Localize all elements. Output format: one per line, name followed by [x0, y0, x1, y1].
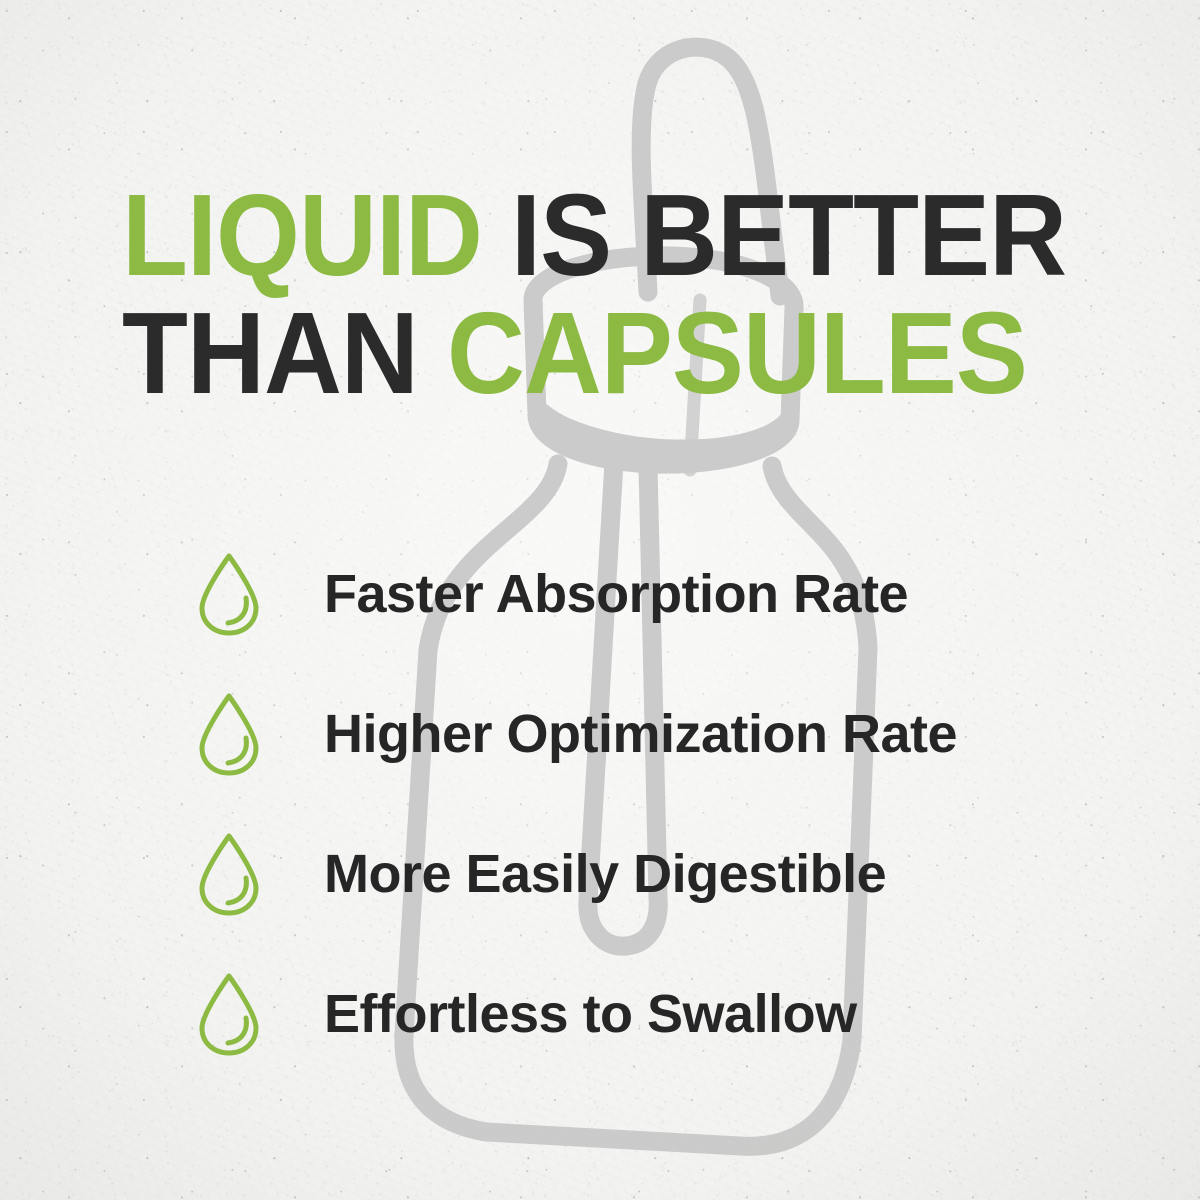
headline-line-2: THAN CAPSULES	[122, 294, 1033, 412]
headline-word-capsules: CAPSULES	[447, 288, 1027, 418]
benefit-label: Effortless to Swallow	[324, 985, 857, 1043]
infographic-canvas: LIQUID IS BETTER THAN CAPSULES Faster Ab…	[0, 0, 1200, 1200]
water-drop-icon	[196, 551, 262, 637]
headline: LIQUID IS BETTER THAN CAPSULES	[122, 176, 1102, 412]
benefit-label: Higher Optimization Rate	[324, 705, 957, 763]
benefit-item-effortless-to-swallow: Effortless to Swallow	[196, 944, 1096, 1084]
headline-line-1: LIQUID IS BETTER	[122, 176, 1033, 294]
water-drop-icon	[196, 971, 262, 1057]
benefits-list: Faster Absorption Rate Higher Optimizati…	[196, 524, 1096, 1084]
benefit-item-higher-optimization-rate: Higher Optimization Rate	[196, 664, 1096, 804]
water-drop-icon	[196, 691, 262, 777]
benefit-item-faster-absorption-rate: Faster Absorption Rate	[196, 524, 1096, 664]
benefit-label: Faster Absorption Rate	[324, 565, 908, 623]
headline-word-liquid: LIQUID	[122, 170, 482, 300]
benefit-label: More Easily Digestible	[324, 845, 886, 903]
headline-word-than: THAN	[122, 288, 447, 418]
water-drop-icon	[196, 831, 262, 917]
headline-text-is-better: IS BETTER	[482, 170, 1066, 300]
benefit-item-more-easily-digestible: More Easily Digestible	[196, 804, 1096, 944]
